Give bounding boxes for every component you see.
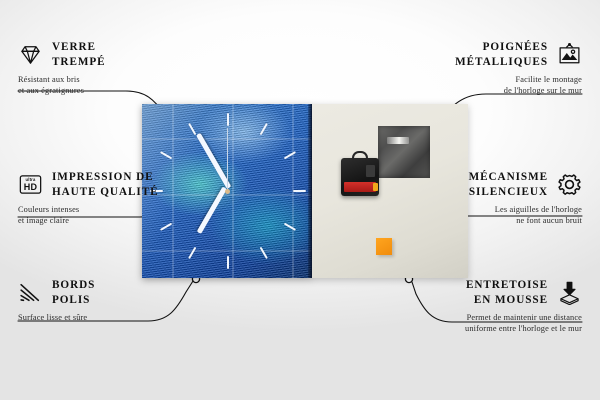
feature-title: ENTRETOISE EN MOUSSE <box>466 278 548 308</box>
product-infographic: VERRE TREMPÉ Résistant aux bris et aux é… <box>0 0 600 400</box>
diamond-icon <box>18 42 43 67</box>
mechanism-hanging-loop <box>352 151 368 160</box>
feature-description: Les aiguilles de l'horloge ne font aucun… <box>372 204 582 228</box>
feature-description: Résistant aux bris et aux égratignures <box>18 74 228 98</box>
feature-title: BORDS POLIS <box>52 278 95 308</box>
feature-title: MÉCANISME SILENCIEUX <box>469 170 548 200</box>
feature-description: Facilite le montage de l'horloge sur le … <box>372 74 582 98</box>
feature-impression-haute-qualite: ultra HD IMPRESSION DE HAUTE QUALITÉ Cou… <box>18 170 248 227</box>
feature-poignees-metalliques: POIGNÉES MÉTALLIQUES Facilite le montage… <box>372 40 582 97</box>
foam-spacer-part <box>376 238 392 255</box>
feature-mecanisme-silencieux: MÉCANISME SILENCIEUX Les aiguilles de l'… <box>372 170 582 227</box>
feature-description: Couleurs intenses et image claire <box>18 204 248 228</box>
feature-entretoise-en-mousse: ENTRETOISE EN MOUSSE Permet de maintenir… <box>352 278 582 335</box>
feature-description: Surface lisse et sûre <box>18 312 228 324</box>
feature-verre-trempe: VERRE TREMPÉ Résistant aux bris et aux é… <box>18 40 228 97</box>
ultra-hd-icon: ultra HD <box>18 172 43 197</box>
feature-bords-polis: BORDS POLIS Surface lisse et sûre <box>18 278 228 323</box>
polished-edges-icon <box>18 280 43 305</box>
feature-description: Permet de maintenir une distance uniform… <box>352 312 582 336</box>
feature-title: VERRE TREMPÉ <box>52 40 106 70</box>
arrow-down-stack-icon <box>557 280 582 305</box>
picture-frame-hanger-icon <box>557 42 582 67</box>
feature-title: IMPRESSION DE HAUTE QUALITÉ <box>52 170 159 200</box>
gear-icon <box>557 172 582 197</box>
feature-title: POIGNÉES MÉTALLIQUES <box>455 40 548 70</box>
ultra-hd-bottom-text: HD <box>24 183 38 192</box>
